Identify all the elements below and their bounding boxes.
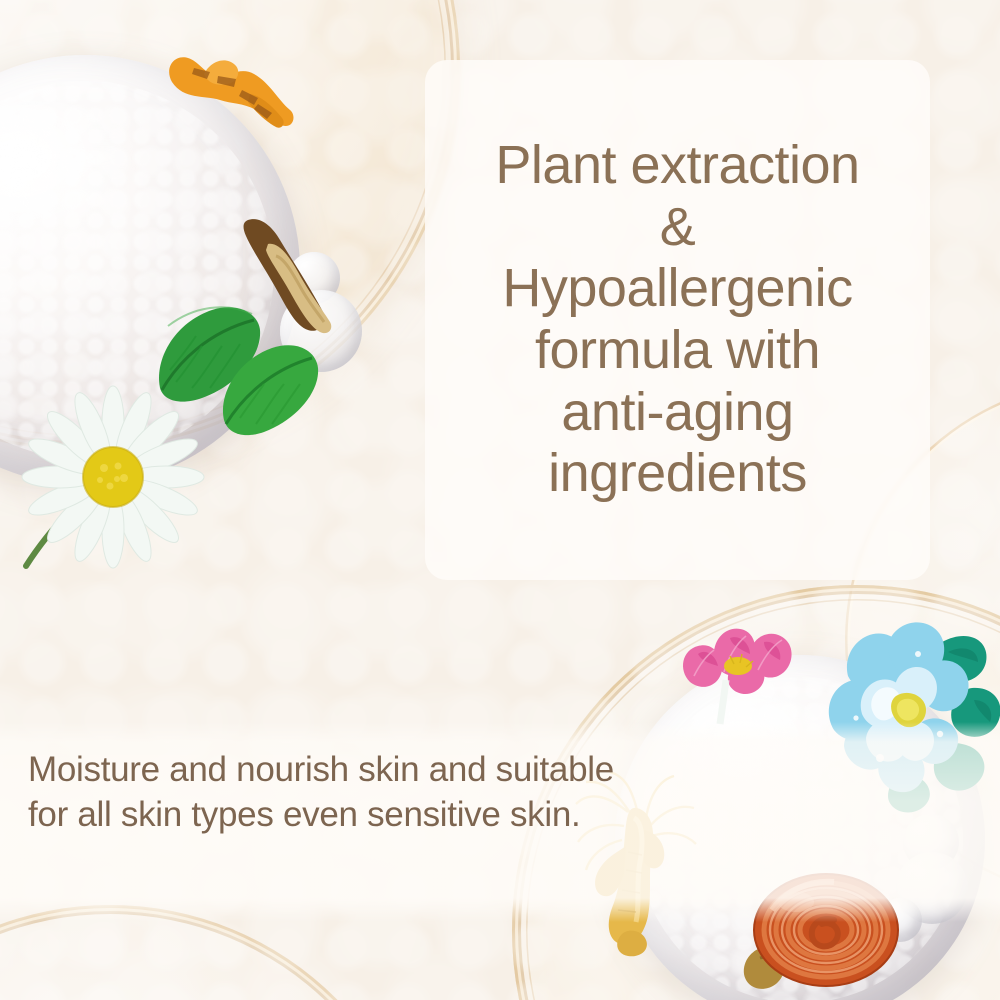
reishi-mushroom-icon — [726, 858, 901, 1000]
blue-lotus-flower-icon — [822, 618, 1000, 818]
headline-text: Plant extraction & Hypoallergenic formul… — [495, 135, 859, 504]
headline-card: Plant extraction & Hypoallergenic formul… — [425, 60, 930, 580]
subcopy-text: Moisture and nourish skin and suitable f… — [28, 748, 628, 838]
daisy-flower-icon — [18, 382, 208, 572]
mint-leaf-small-icon — [216, 338, 321, 443]
product-feature-banner: Plant extraction & Hypoallergenic formul… — [0, 0, 1000, 1000]
dried-turmeric-herb-icon — [158, 38, 298, 158]
pink-peony-flower-icon — [668, 612, 803, 727]
